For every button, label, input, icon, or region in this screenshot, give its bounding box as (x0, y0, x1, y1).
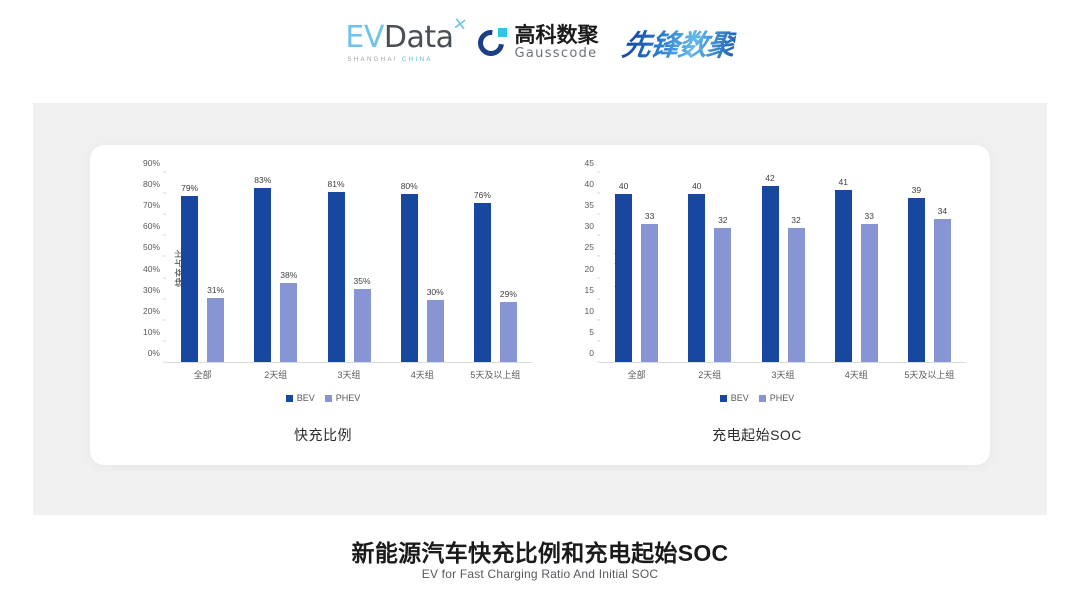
x-axis-line-left (166, 362, 532, 363)
legend-label-phev: PHEV (336, 393, 361, 403)
legend-swatch-phev-icon (759, 395, 766, 402)
bar-value-label: 39 (912, 185, 921, 195)
y-tick-label: 5 (589, 327, 594, 337)
gausscode-logo: 高科数聚 Gausscode (478, 25, 599, 61)
bar-value-label: 31% (207, 285, 224, 295)
plot-area-right: 电量（%） 051015202530354045 403340324232413… (600, 173, 966, 363)
x-tick-label: 4天组 (820, 368, 893, 381)
page-subtitle: EV for Fast Charging Ratio And Initial S… (0, 567, 1080, 581)
bar-group: 80%30% (386, 173, 459, 363)
y-tick-label: 40 (585, 179, 594, 189)
bar-value-label: 81% (327, 179, 344, 189)
bar-bev[interactable]: 40 (688, 194, 705, 363)
bar-group: 79%31% (166, 173, 239, 363)
y-tick-label: 90% (143, 158, 160, 168)
chart-caption-left: 快充比例 (108, 425, 538, 445)
y-tick-label: 40% (143, 264, 160, 274)
bar-group: 76%29% (459, 173, 532, 363)
y-tick-label: 60% (143, 221, 160, 231)
x-tick-label: 5天及以上组 (459, 368, 532, 381)
plot-area-left: 快充占比 0%10%20%30%40%50%60%70%80%90% 79%31… (166, 173, 532, 363)
legend-swatch-bev-icon (720, 395, 727, 402)
xianfeng-logo: 先锋数聚 (619, 22, 738, 64)
bar-phev[interactable]: 33 (641, 224, 658, 363)
gausscode-text: 高科数聚 Gausscode (515, 25, 599, 61)
bar-group: 4032 (673, 173, 746, 363)
bar-value-label: 30% (427, 287, 444, 297)
bar-bev[interactable]: 83% (254, 188, 271, 363)
bar-value-label: 34 (938, 206, 947, 216)
evdata-city-text: SHANGHAI (347, 57, 398, 63)
chart-card: 快充占比 0%10%20%30%40%50%60%70%80%90% 79%31… (90, 145, 990, 465)
legend-item-bev[interactable]: BEV (720, 393, 749, 403)
bar-phev[interactable]: 34 (934, 219, 951, 363)
bar-value-label: 38% (280, 270, 297, 280)
logo-bar: EVData ✕ SHANGHAI CHINA 高科数聚 Gausscode 先… (0, 22, 1080, 64)
evdata-x-icon: ✕ (452, 15, 468, 34)
bar-phev[interactable]: 29% (500, 302, 517, 363)
bar-value-label: 32 (718, 215, 727, 225)
x-tick-label: 2天组 (673, 368, 746, 381)
y-tick-label: 30 (585, 221, 594, 231)
bar-bev[interactable]: 79% (181, 196, 198, 363)
bar-group: 4133 (820, 173, 893, 363)
y-tick-label: 15 (585, 285, 594, 295)
bar-bev[interactable]: 42 (762, 186, 779, 363)
bar-bev[interactable]: 39 (908, 198, 925, 363)
gausscode-cn-text: 高科数聚 (515, 25, 599, 47)
bar-value-label: 32 (791, 215, 800, 225)
evdata-logo: EVData ✕ SHANGHAI CHINA (345, 23, 453, 63)
bar-group: 3934 (893, 173, 966, 363)
slide-root: EVData ✕ SHANGHAI CHINA 高科数聚 Gausscode 先… (0, 0, 1080, 608)
legend-label-bev: BEV (297, 393, 315, 403)
bar-value-label: 76% (474, 190, 491, 200)
bar-groups-left: 79%31%83%38%81%35%80%30%76%29% (166, 173, 532, 363)
bar-group: 83%38% (239, 173, 312, 363)
legend-swatch-phev-icon (325, 395, 332, 402)
bar-value-label: 33 (864, 211, 873, 221)
evdata-tagline: SHANGHAI CHINA (347, 57, 432, 63)
y-tick-label: 0% (148, 348, 160, 358)
evdata-country-text: CHINA (402, 57, 433, 63)
bar-value-label: 80% (401, 181, 418, 191)
bar-bev[interactable]: 40 (615, 194, 632, 363)
y-tick-label: 50% (143, 242, 160, 252)
bar-phev[interactable]: 31% (207, 298, 224, 363)
bar-group: 4232 (746, 173, 819, 363)
bar-phev[interactable]: 33 (861, 224, 878, 363)
y-tick-label: 80% (143, 179, 160, 189)
bar-bev[interactable]: 80% (401, 194, 418, 363)
bar-phev[interactable]: 30% (427, 300, 444, 363)
x-tick-label: 3天组 (312, 368, 385, 381)
legend-label-phev: PHEV (770, 393, 795, 403)
chart-caption-right: 充电起始SOC (542, 425, 972, 445)
chart-initial-soc: 电量（%） 051015202530354045 403340324232413… (542, 159, 972, 454)
bar-groups-right: 40334032423241333934 (600, 173, 966, 363)
legend-right: BEV PHEV (542, 393, 972, 403)
legend-left: BEV PHEV (108, 393, 538, 403)
bar-phev[interactable]: 32 (714, 228, 731, 363)
x-axis-labels-right: 全部2天组3天组4天组5天及以上组 (600, 368, 966, 381)
gausscode-mark-icon (478, 28, 508, 58)
x-tick-label: 3天组 (746, 368, 819, 381)
bar-bev[interactable]: 76% (474, 203, 491, 363)
bar-value-label: 79% (181, 183, 198, 193)
gausscode-square-icon (498, 28, 507, 37)
bar-phev[interactable]: 35% (354, 289, 371, 363)
legend-item-bev[interactable]: BEV (286, 393, 315, 403)
x-tick-label: 4天组 (386, 368, 459, 381)
bar-bev[interactable]: 81% (328, 192, 345, 363)
y-tick-label: 20 (585, 264, 594, 274)
legend-item-phev[interactable]: PHEV (325, 393, 361, 403)
y-tick-label: 45 (585, 158, 594, 168)
x-tick-label: 全部 (166, 368, 239, 381)
bar-value-label: 40 (692, 181, 701, 191)
gausscode-en-text: Gausscode (515, 47, 599, 61)
x-axis-labels-left: 全部2天组3天组4天组5天及以上组 (166, 368, 532, 381)
bar-value-label: 42 (765, 173, 774, 183)
bar-value-label: 33 (645, 211, 654, 221)
bar-value-label: 83% (254, 175, 271, 185)
bar-value-label: 35% (353, 276, 370, 286)
bar-value-label: 40 (619, 181, 628, 191)
y-tick-label: 30% (143, 285, 160, 295)
y-tick-label: 25 (585, 242, 594, 252)
evdata-wordmark: EVData ✕ (345, 23, 453, 53)
page-title: 新能源汽车快充比例和充电起始SOC (0, 534, 1080, 568)
bar-value-label: 41 (838, 177, 847, 187)
x-tick-label: 5天及以上组 (893, 368, 966, 381)
y-tick-label: 0 (589, 348, 594, 358)
bar-group: 81%35% (312, 173, 385, 363)
bar-value-label: 29% (500, 289, 517, 299)
chart-fast-charging-ratio: 快充占比 0%10%20%30%40%50%60%70%80%90% 79%31… (108, 159, 538, 454)
y-tick-label: 10 (585, 306, 594, 316)
legend-swatch-bev-icon (286, 395, 293, 402)
bar-phev[interactable]: 38% (280, 283, 297, 363)
bar-phev[interactable]: 32 (788, 228, 805, 363)
x-tick-label: 2天组 (239, 368, 312, 381)
y-tick-label: 70% (143, 200, 160, 210)
y-tick-label: 20% (143, 306, 160, 316)
evdata-data-text: Data (384, 20, 454, 55)
x-axis-line-right (600, 362, 966, 363)
evdata-ev-text: EV (345, 20, 383, 55)
x-tick-label: 全部 (600, 368, 673, 381)
y-tick-label: 35 (585, 200, 594, 210)
y-tick-label: 10% (143, 327, 160, 337)
legend-item-phev[interactable]: PHEV (759, 393, 795, 403)
bar-bev[interactable]: 41 (835, 190, 852, 363)
bar-group: 4033 (600, 173, 673, 363)
legend-label-bev: BEV (731, 393, 749, 403)
